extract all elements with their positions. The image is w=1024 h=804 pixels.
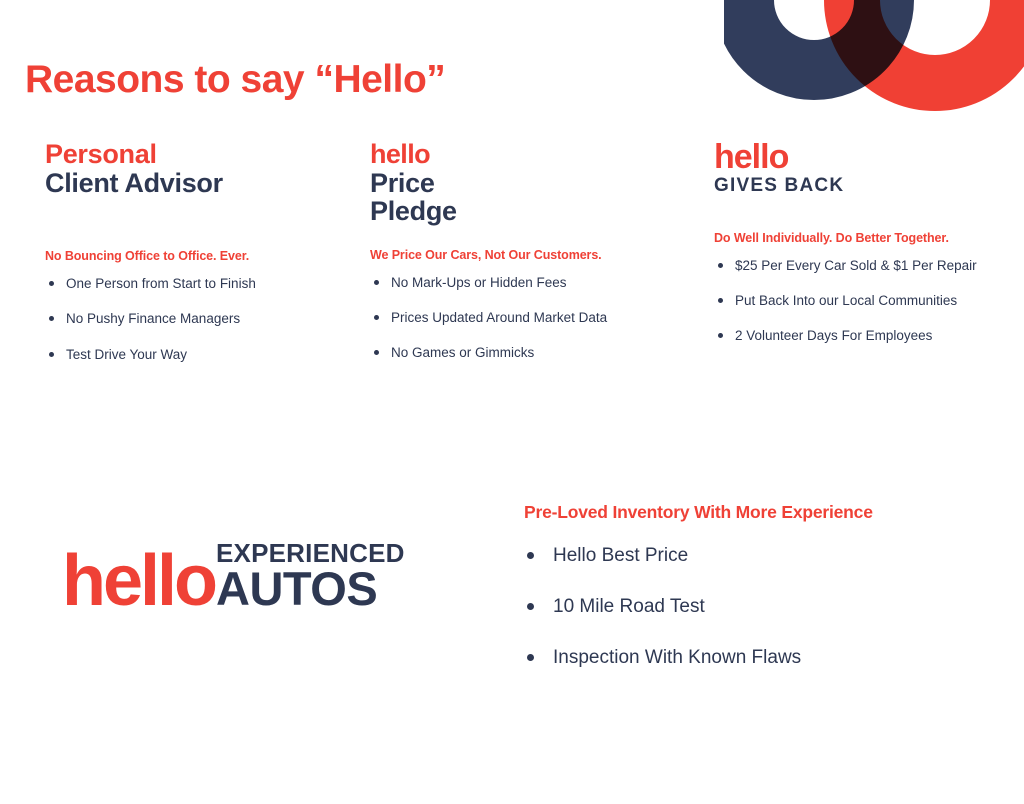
logo-autos-label: AUTOS [216,569,377,609]
list-item-label: Put Back Into our Local Communities [735,293,957,308]
list-item-label: 2 Volunteer Days For Employees [735,328,932,343]
hello-experienced-autos-logo: hello EXPERIENCED AUTOS [62,540,405,611]
bullet-dot-icon [718,263,723,268]
list-item-label: Hello Best Price [553,545,688,566]
list-item: 10 Mile Road Test [524,596,1004,619]
column2-title-line3: Pledge [370,197,670,226]
list-item-label: No Games or Gimmicks [391,345,534,360]
column1-bullet-list: One Person from Start to Finish No Pushy… [45,276,345,363]
list-item-label: 10 Mile Road Test [553,596,705,617]
bullet-dot-icon [718,333,723,338]
bullet-dot-icon [527,603,534,610]
bullet-dot-icon [374,350,379,355]
list-item-label: Test Drive Your Way [66,347,187,362]
list-item: $25 Per Every Car Sold & $1 Per Repair [714,258,1014,274]
column1-title-line1: Personal [45,140,345,169]
bullet-dot-icon [49,281,54,286]
list-item: Inspection With Known Flaws [524,647,1004,670]
logo-autos-block: EXPERIENCED AUTOS [216,540,405,611]
bullet-dot-icon [718,298,723,303]
list-item-label: Prices Updated Around Market Data [391,310,607,325]
bullet-dot-icon [49,352,54,357]
list-item: One Person from Start to Finish [45,276,345,292]
page-title: Reasons to say “Hello” [25,59,445,102]
column1-subhead: No Bouncing Office to Office. Ever. [45,249,345,263]
feature-column-personal-client-advisor: Personal Client Advisor No Bouncing Offi… [45,140,345,382]
list-item: Put Back Into our Local Communities [714,293,1014,309]
hello-wordmark: hello [714,140,1014,174]
column3-subhead: Do Well Individually. Do Better Together… [714,231,1014,245]
bottom-bullet-list: Hello Best Price 10 Mile Road Test Inspe… [524,545,1004,669]
bullet-dot-icon [374,280,379,285]
navy-ring-icon [724,0,914,100]
list-item-label: No Pushy Finance Managers [66,311,240,326]
logo-hello-wordmark: hello [62,552,215,611]
list-item: Hello Best Price [524,545,1004,568]
red-ring-icon [824,0,1024,111]
column3-title-line2: GIVES BACK [714,176,1014,197]
decorative-rings [724,0,1024,140]
slide-canvas: Reasons to say “Hello” Personal Client A… [0,0,1024,804]
list-item: No Games or Gimmicks [370,345,670,361]
pre-loved-inventory-section: Pre-Loved Inventory With More Experience… [524,503,1004,698]
list-item: No Mark-Ups or Hidden Fees [370,275,670,291]
column2-title-line2: Price [370,169,670,198]
bullet-dot-icon [374,315,379,320]
bottom-subhead: Pre-Loved Inventory With More Experience [524,503,1004,522]
hello-wordmark: hello [370,140,670,169]
list-item-label: No Mark-Ups or Hidden Fees [391,275,567,290]
feature-column-hello-price-pledge: hello Price Pledge We Price Our Cars, No… [370,140,670,380]
list-item-label: Inspection With Known Flaws [553,647,801,668]
column1-title-line2: Client Advisor [45,169,345,198]
list-item-label: One Person from Start to Finish [66,276,256,291]
list-item-label: $25 Per Every Car Sold & $1 Per Repair [735,258,977,273]
list-item: Prices Updated Around Market Data [370,310,670,326]
bullet-dot-icon [527,552,534,559]
column3-bullet-list: $25 Per Every Car Sold & $1 Per Repair P… [714,258,1014,345]
bullet-dot-icon [527,654,534,661]
feature-column-hello-gives-back: hello GIVES BACK Do Well Individually. D… [714,140,1014,363]
list-item: 2 Volunteer Days For Employees [714,328,1014,344]
column2-bullet-list: No Mark-Ups or Hidden Fees Prices Update… [370,275,670,362]
list-item: Test Drive Your Way [45,347,345,363]
column2-subhead: We Price Our Cars, Not Our Customers. [370,248,670,262]
bullet-dot-icon [49,316,54,321]
list-item: No Pushy Finance Managers [45,311,345,327]
